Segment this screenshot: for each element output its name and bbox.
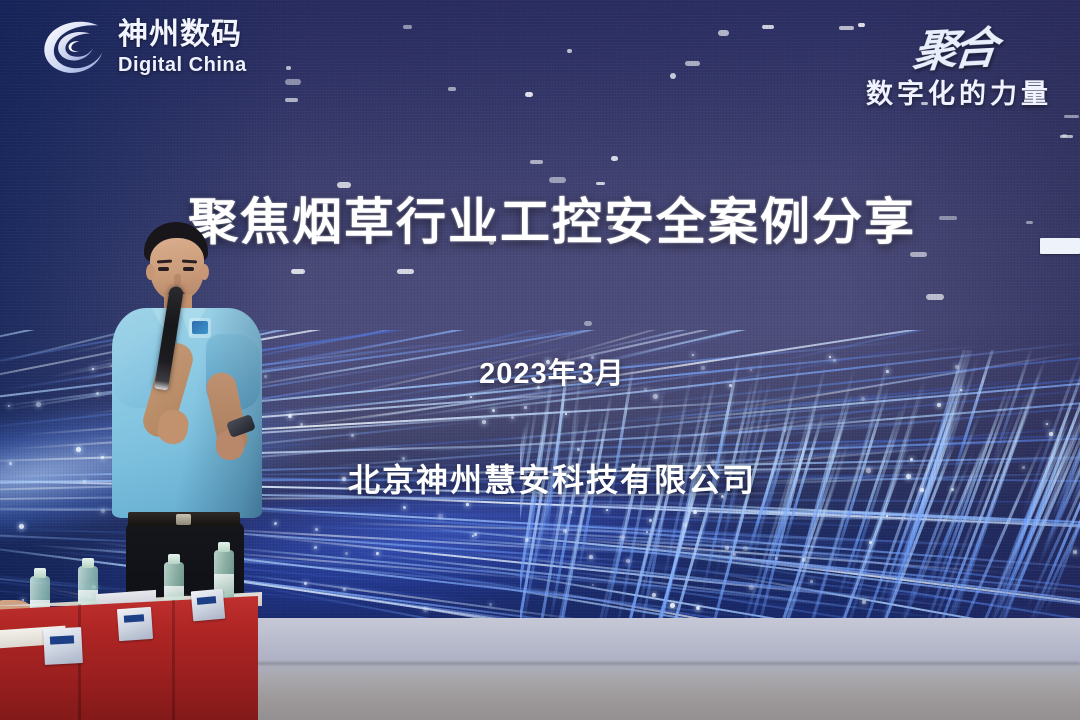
theme-subtitle: 数字化的力量 bbox=[866, 72, 1052, 111]
bottle-cap bbox=[82, 558, 94, 568]
bottle-cap bbox=[168, 554, 180, 564]
presenter-eye-left bbox=[158, 267, 169, 271]
bottle-cap bbox=[34, 568, 46, 578]
table-cloth-fold bbox=[172, 600, 175, 720]
presenter-eye-right bbox=[183, 267, 194, 271]
name-card bbox=[43, 627, 83, 665]
brand-name-en: Digital China bbox=[118, 55, 247, 75]
screen-edge-light bbox=[1040, 238, 1080, 254]
name-card-strip bbox=[124, 614, 144, 622]
name-card bbox=[117, 607, 153, 641]
presenter-nose bbox=[174, 274, 181, 286]
digital-china-wordmark: 神州数码 Digital China bbox=[118, 20, 247, 75]
presenter-belt-buckle bbox=[176, 514, 191, 525]
digital-china-swirl-icon bbox=[40, 16, 108, 78]
presenter-figure bbox=[96, 222, 286, 622]
name-card-strip bbox=[50, 635, 74, 644]
theme-calligraphy: 聚合 bbox=[910, 12, 997, 80]
presenter-ear-right bbox=[200, 264, 209, 280]
brand-name-cn: 神州数码 bbox=[118, 20, 247, 50]
presenter-ear-left bbox=[146, 264, 155, 280]
name-card bbox=[191, 589, 225, 622]
digital-china-logo: 神州数码 Digital China bbox=[40, 16, 247, 78]
conference-stage-photo: 神州数码 Digital China 聚合 数字化的力量 聚焦烟草行业工控安全案… bbox=[0, 0, 1080, 720]
company-logo-icon bbox=[192, 321, 208, 334]
bottle-cap bbox=[218, 542, 230, 552]
event-theme-logo: 聚合 数字化的力量 bbox=[866, 14, 1052, 111]
